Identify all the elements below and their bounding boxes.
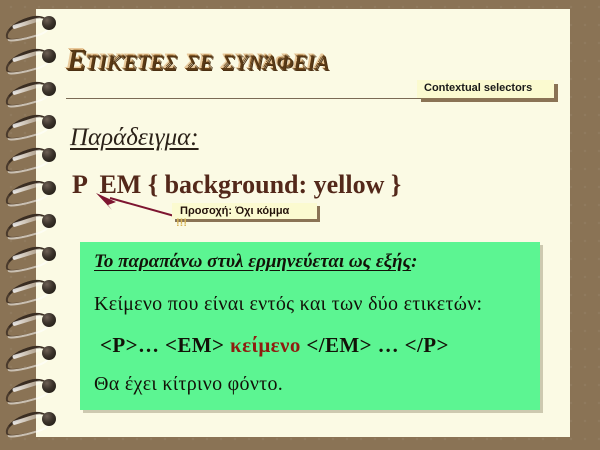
page-title: Ετικέτες σε συνάφεια: [66, 41, 456, 77]
warning-note: Προσοχή: Όχι κόμμα !!!: [172, 203, 317, 219]
explanation-heading: Το παραπάνω στυλ ερμηνεύεται ως εξής:: [94, 251, 417, 273]
warning-note-label: Προσοχή: Όχι κόμμα !!!: [172, 203, 317, 229]
warning-note-emphasis: !!!: [176, 217, 187, 229]
explanation-line-3-keyword: κείμενο: [230, 333, 301, 357]
explanation-heading-underlined: Το παραπάνω στυλ ερμηνεύεται ως εξής: [94, 251, 411, 272]
slide-title-block: Ετικέτες σε συνάφεια: [66, 41, 456, 77]
warning-note-text: Προσοχή: Όχι κόμμα: [176, 204, 317, 217]
spiral-binding-icon: [0, 0, 60, 450]
explanation-heading-tail: :: [411, 251, 417, 272]
explanation-line-2: Κείμενο που είναι εντός και των δύο ετικ…: [94, 293, 482, 316]
example-heading: Παράδειγμα:: [70, 124, 199, 152]
callout-label: Contextual selectors: [417, 80, 554, 94]
explanation-line-4: Θα έχει κίτρινο φόντο.: [94, 373, 283, 396]
title-divider: [66, 98, 546, 99]
pointer-arrow-icon: [88, 192, 183, 220]
explanation-box: Το παραπάνω στυλ ερμηνεύεται ως εξής: Κε…: [80, 242, 540, 410]
explanation-line-3: <P>… <EM> κείμενο </EM> … </P>: [100, 333, 449, 358]
slide-canvas: Ετικέτες σε συνάφεια Contextual selector…: [0, 0, 600, 450]
explanation-line-3-pre: <P>… <EM>: [100, 333, 230, 357]
callout-contextual-selectors: Contextual selectors: [417, 80, 554, 98]
explanation-line-3-post: </EM> … </P>: [301, 333, 449, 357]
